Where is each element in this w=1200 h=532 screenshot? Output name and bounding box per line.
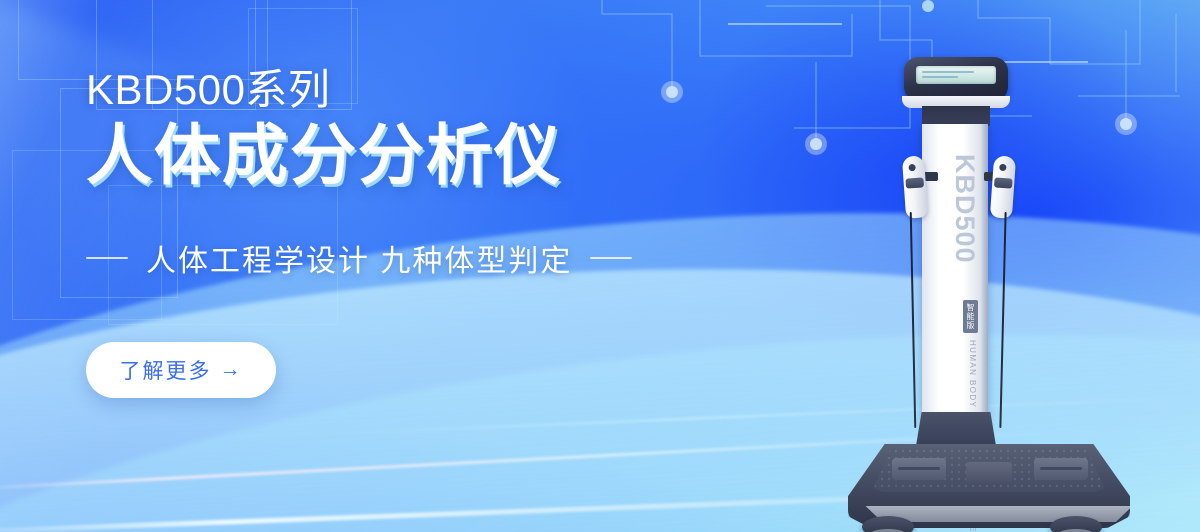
cable-left bbox=[910, 212, 917, 428]
hand-electrode-right bbox=[990, 155, 1016, 218]
handle-grip-right bbox=[994, 177, 1013, 188]
screen-line-1 bbox=[922, 71, 974, 73]
product-image-body-composition-analyzer: KBD500 智能版 HUMAN BODY COMPOSITION ANALYZ… bbox=[838, 40, 1138, 532]
page-title: 人体成分分析仪 bbox=[86, 119, 680, 193]
device-neck bbox=[922, 106, 990, 126]
rule-left-icon bbox=[86, 257, 128, 259]
rule-right-icon bbox=[590, 257, 632, 259]
learn-more-button[interactable]: 了解更多 → bbox=[86, 342, 276, 398]
device-display-head bbox=[904, 57, 1008, 101]
hero-subtitle: 人体工程学设计 九种体型判定 bbox=[146, 236, 572, 280]
hand-electrode-left bbox=[902, 155, 928, 218]
subtitle-row: 人体工程学设计 九种体型判定 bbox=[86, 236, 680, 280]
screen-line-2 bbox=[922, 76, 958, 78]
device-brand-text: KBD500 bbox=[949, 154, 980, 264]
cable-right bbox=[999, 212, 1006, 428]
foot-electrode-right-bar bbox=[1040, 467, 1082, 470]
column-shadow-edge bbox=[980, 124, 988, 424]
product-series-label: KBD500系列 bbox=[86, 68, 680, 113]
learn-more-label: 了解更多 bbox=[120, 355, 212, 385]
lcd-display-screen bbox=[916, 66, 996, 84]
foot-electrode-left-bar bbox=[898, 467, 940, 470]
device-badge: 智能版 bbox=[963, 300, 978, 333]
footplate-center-panel bbox=[966, 462, 1012, 482]
hero-text-content: KBD500系列 人体成分分析仪 人体工程学设计 九种体型判定 了解更多 → bbox=[0, 0, 680, 532]
foot-electrode-right bbox=[1034, 458, 1088, 480]
handle-grip-left bbox=[905, 177, 924, 188]
product-hero-banner: KBD500系列 人体成分分析仪 人体工程学设计 九种体型判定 了解更多 → K… bbox=[0, 0, 1200, 532]
arrow-right-icon: → bbox=[220, 358, 243, 382]
handle-button-left-icon bbox=[908, 164, 915, 171]
device-column: KBD500 智能版 HUMAN BODY COMPOSITION ANALYZ… bbox=[922, 124, 988, 424]
foot-electrode-left bbox=[892, 458, 946, 480]
handle-button-right-icon bbox=[999, 164, 1006, 171]
